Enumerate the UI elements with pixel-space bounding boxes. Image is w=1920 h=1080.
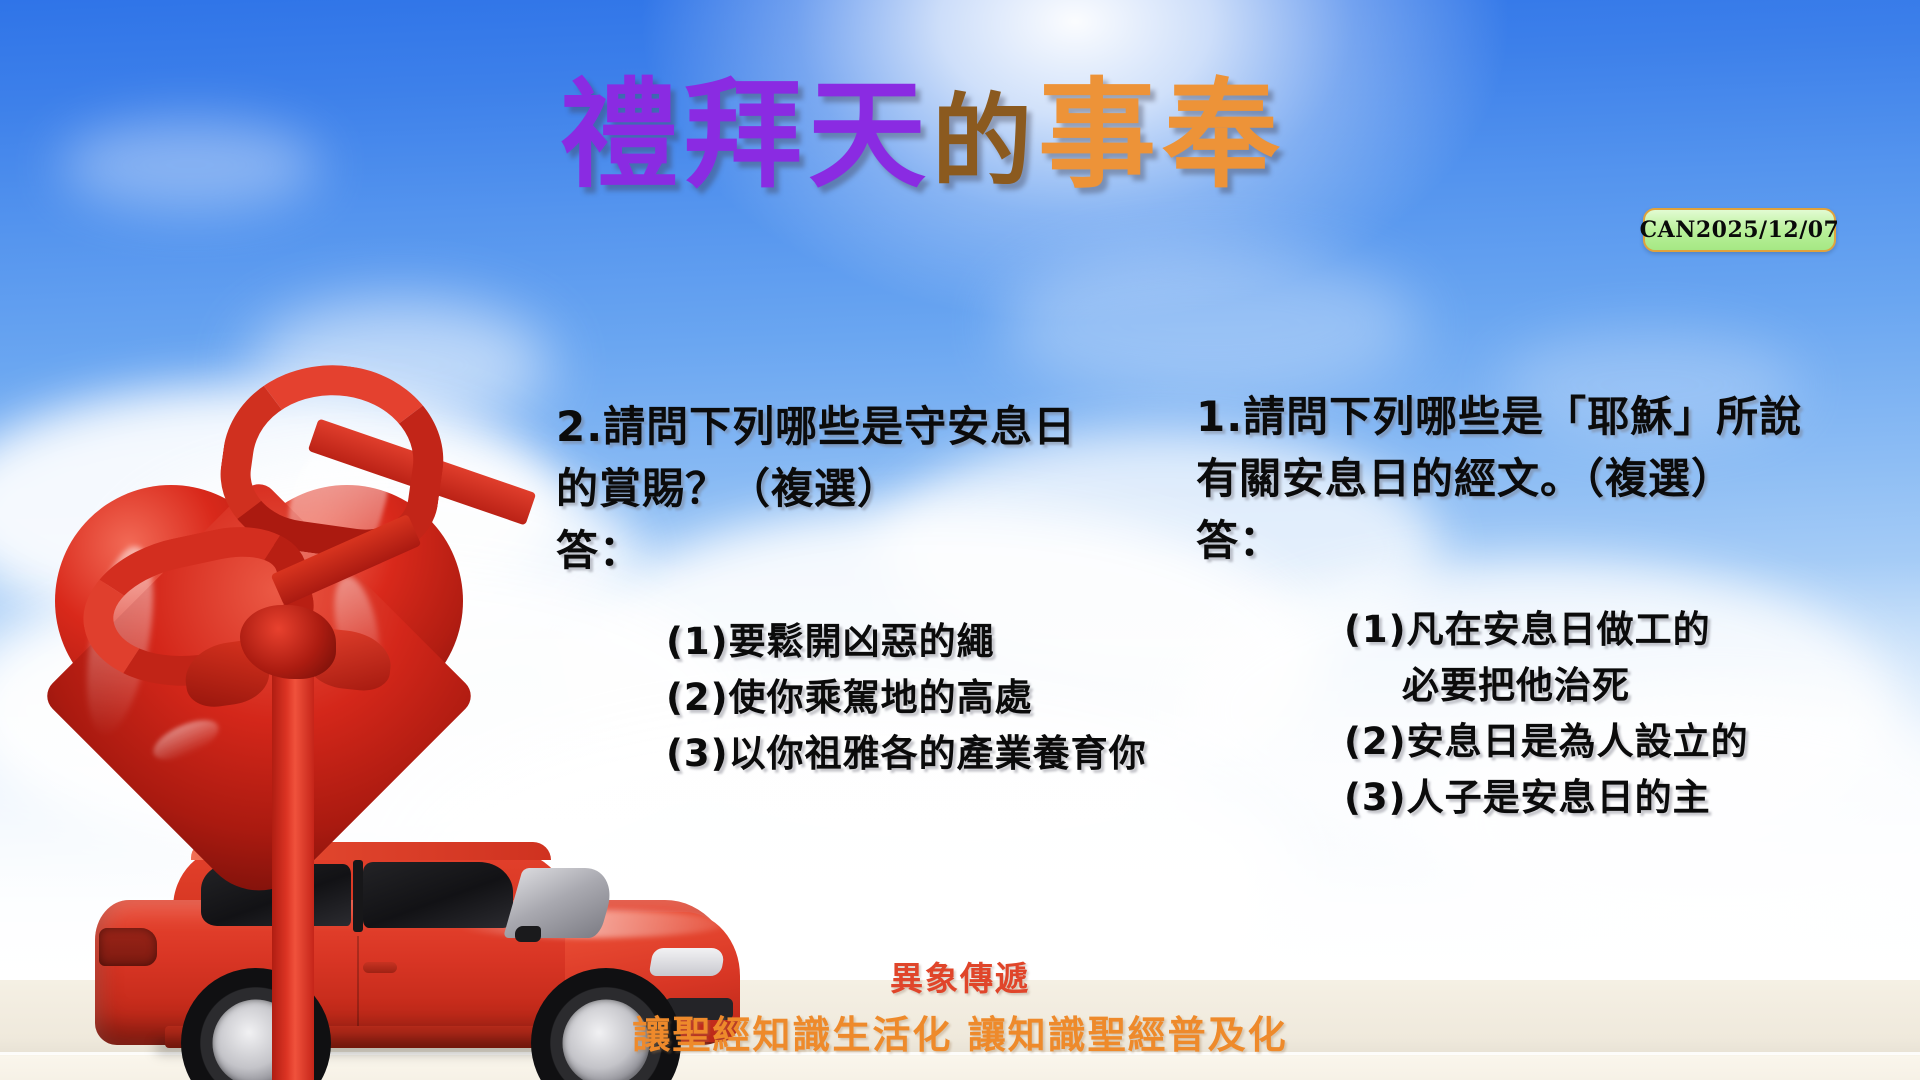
answer-option: (2)安息日是為人設立的	[1344, 714, 1802, 770]
car-b-pillar	[353, 860, 363, 932]
footer-slogan-secondary: 讓聖經知識生活化 讓知識聖經普及化	[0, 1004, 1920, 1059]
title-part-brown: 的	[932, 83, 1038, 200]
title-part-orange: 事奉	[1038, 66, 1286, 204]
cloud-puff	[1000, 250, 1420, 400]
footer: 異象傳遞 讓聖經知識生活化 讓知識聖經普及化	[0, 952, 1920, 1059]
question-2-heading: 2.請問下列哪些是守安息日 的賞賜？（複選） 答：	[556, 396, 1147, 582]
question-2-answer-label: 答：	[556, 520, 1147, 582]
question-1-line-2: 有關安息日的經文。（複選）	[1196, 448, 1802, 510]
answer-option: (1)凡在安息日做工的	[1344, 602, 1802, 658]
answer-option-continued: 必要把他治死	[1402, 658, 1802, 714]
answer-option: (1)要鬆開凶惡的繩	[666, 614, 1147, 670]
question-2-line-1: 2.請問下列哪些是守安息日	[556, 396, 1147, 458]
question-1-line-1: 1.請問下列哪些是「耶穌」所說	[1196, 386, 1802, 448]
answer-option: (3)人子是安息日的主	[1344, 770, 1802, 826]
question-block-1: 1.請問下列哪些是「耶穌」所說 有關安息日的經文。（複選） 答： (1)凡在安息…	[1196, 386, 1802, 826]
title-part-purple: 禮拜天	[560, 66, 932, 204]
slide-canvas: 禮拜天的事奉 CAN2025/12/07 2.請問下列哪些是守安息日 的賞賜？（…	[0, 0, 1920, 1080]
question-1-heading: 1.請問下列哪些是「耶穌」所說 有關安息日的經文。（複選） 答：	[1196, 386, 1802, 572]
question-1-answer-label: 答：	[1196, 510, 1802, 572]
question-block-2: 2.請問下列哪些是守安息日 的賞賜？（複選） 答： (1)要鬆開凶惡的繩 (2)…	[556, 396, 1147, 782]
gift-heart-group	[55, 395, 485, 865]
question-1-answer-list: (1)凡在安息日做工的 必要把他治死 (2)安息日是為人設立的 (3)人子是安息…	[1344, 602, 1802, 826]
question-2-line-2: 的賞賜？（複選）	[556, 458, 1147, 520]
answer-option: (3)以你祖雅各的產業養育你	[666, 726, 1147, 782]
answer-option: (2)使你乘駕地的高處	[666, 670, 1147, 726]
status-badge[interactable]: CAN2025/12/07	[1643, 208, 1836, 252]
footer-slogan-primary: 異象傳遞	[0, 952, 1920, 1000]
question-2-answer-list: (1)要鬆開凶惡的繩 (2)使你乘駕地的高處 (3)以你祖雅各的產業養育你	[666, 614, 1147, 782]
page-title: 禮拜天的事奉	[560, 70, 1460, 200]
car-front-window	[363, 862, 513, 928]
car-side-mirror	[515, 926, 541, 942]
